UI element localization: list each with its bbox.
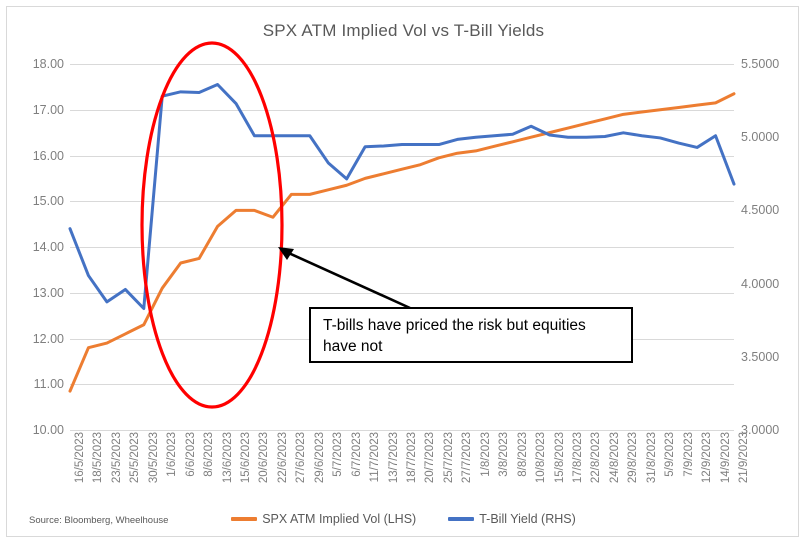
- x-axis-tick-label: 30/5/2023: [148, 432, 160, 483]
- x-axis-tick-label: 15/8/2023: [554, 432, 566, 483]
- x-axis-tick-label: 11/7/2023: [369, 432, 381, 482]
- plot-area: [70, 64, 734, 430]
- x-axis-tick-label: 27/6/2023: [295, 432, 307, 483]
- x-axis-tick-label: 18/5/2023: [92, 432, 104, 483]
- legend-swatch-icon: [231, 517, 257, 521]
- y-axis-left-tick: 14.00: [33, 240, 64, 254]
- x-axis-tick-label: 15/6/2023: [240, 432, 252, 483]
- x-axis-tick-label: 8/6/2023: [203, 432, 215, 477]
- y-axis-right-tick: 4.5000: [741, 203, 779, 217]
- x-axis-tick-label: 12/9/2023: [701, 432, 713, 483]
- x-axis-tick-label: 20/6/2023: [258, 432, 270, 483]
- y-axis-left-tick: 13.00: [33, 286, 64, 300]
- x-axis-tick-label: 17/8/2023: [572, 432, 584, 483]
- y-axis-left-tick: 10.00: [33, 423, 64, 437]
- x-axis-tick-label: 8/8/2023: [517, 432, 529, 477]
- highlight-ellipse: [142, 43, 282, 407]
- annotation-text: T-bills have priced the risk but equitie…: [323, 317, 586, 355]
- y-axis-left-tick: 16.00: [33, 149, 64, 163]
- x-axis-tick-label: 10/8/2023: [535, 432, 547, 483]
- x-axis-tick-label: 29/6/2023: [314, 432, 326, 483]
- y-axis-left-tick: 11.00: [34, 377, 64, 391]
- chart-legend: SPX ATM Implied Vol (LHS)T-Bill Yield (R…: [7, 512, 800, 526]
- legend-label: SPX ATM Implied Vol (LHS): [262, 512, 416, 526]
- x-axis-tick-label: 23/5/2023: [111, 432, 123, 483]
- legend-item[interactable]: T-Bill Yield (RHS): [448, 512, 576, 526]
- y-axis-right-tick: 4.0000: [741, 277, 779, 291]
- x-axis-tick-label: 21/9/2023: [738, 432, 750, 483]
- legend-label: T-Bill Yield (RHS): [479, 512, 576, 526]
- x-axis-tick-label: 1/6/2023: [166, 432, 178, 477]
- chart-container: SPX ATM Implied Vol vs T-Bill Yields 10.…: [6, 6, 799, 537]
- x-axis-tick-label: 6/7/2023: [351, 432, 363, 477]
- x-axis-labels: 16/5/202318/5/202323/5/202325/5/202330/5…: [70, 432, 734, 512]
- annotation-overlay: [70, 64, 734, 430]
- x-axis-tick-label: 24/8/2023: [609, 432, 621, 483]
- gridline: [70, 430, 734, 431]
- x-axis-tick-label: 25/5/2023: [129, 432, 141, 483]
- annotation-callout: T-bills have priced the risk but equitie…: [309, 307, 633, 363]
- x-axis-tick-label: 13/6/2023: [222, 432, 234, 483]
- x-axis-tick-label: 25/7/2023: [443, 432, 455, 483]
- annotation-arrow: [278, 247, 410, 308]
- x-axis-tick-label: 6/6/2023: [185, 432, 197, 477]
- x-axis-tick-label: 22/6/2023: [277, 432, 289, 483]
- x-axis-tick-label: 1/8/2023: [480, 432, 492, 477]
- x-axis-tick-label: 13/7/2023: [388, 432, 400, 483]
- x-axis-tick-label: 16/5/2023: [74, 432, 86, 483]
- y-axis-right-tick: 5.5000: [741, 57, 779, 71]
- y-axis-left-tick: 15.00: [33, 194, 64, 208]
- x-axis-tick-label: 31/8/2023: [646, 432, 658, 483]
- legend-item[interactable]: SPX ATM Implied Vol (LHS): [231, 512, 416, 526]
- x-axis-tick-label: 14/9/2023: [720, 432, 732, 483]
- x-axis-tick-label: 20/7/2023: [424, 432, 436, 483]
- x-axis-tick-label: 27/7/2023: [461, 432, 473, 483]
- y-axis-left-tick: 18.00: [33, 57, 64, 71]
- x-axis-tick-label: 18/7/2023: [406, 432, 418, 483]
- legend-swatch-icon: [448, 517, 474, 521]
- y-axis-right-tick: 3.5000: [741, 350, 779, 364]
- x-axis-tick-label: 3/8/2023: [498, 432, 510, 477]
- y-axis-left-tick: 17.00: [33, 103, 64, 117]
- x-axis-tick-label: 7/9/2023: [683, 432, 695, 477]
- chart-title: SPX ATM Implied Vol vs T-Bill Yields: [7, 21, 800, 41]
- y-axis-left-tick: 12.00: [33, 332, 64, 346]
- x-axis-tick-label: 29/8/2023: [627, 432, 639, 483]
- y-axis-right-tick: 5.0000: [741, 130, 779, 144]
- x-axis-tick-label: 5/7/2023: [332, 432, 344, 477]
- x-axis-tick-label: 22/8/2023: [590, 432, 602, 483]
- x-axis-tick-label: 5/9/2023: [664, 432, 676, 477]
